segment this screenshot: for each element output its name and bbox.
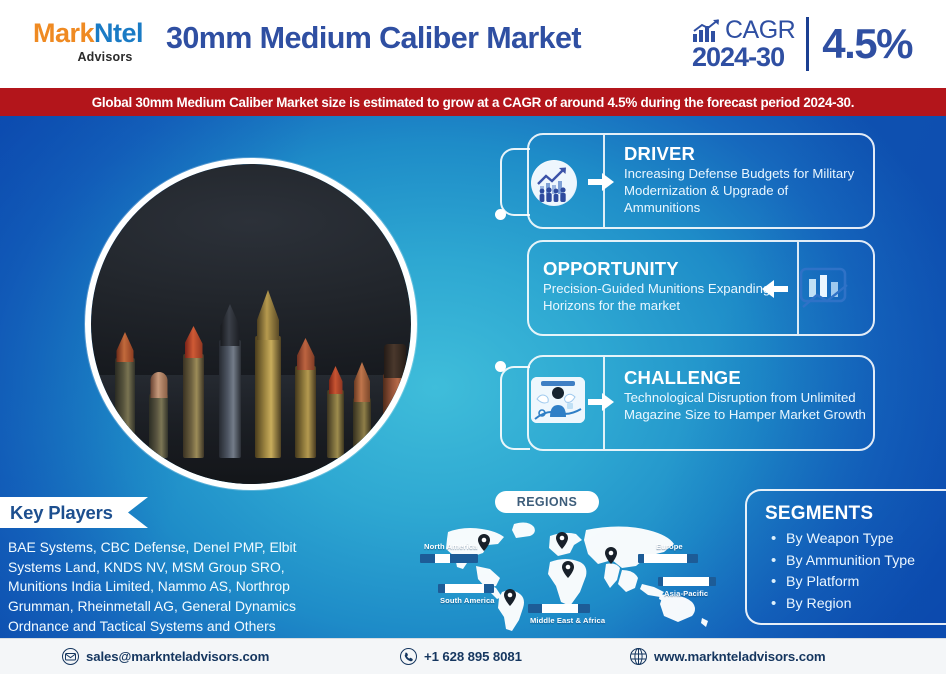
cartridge-6 (295, 340, 316, 458)
cartridge-2 (149, 376, 168, 458)
infographic-page: MarkNtel Advisors 30mm Medium Caliber Ma… (0, 0, 946, 674)
bar-chart-icon (797, 265, 851, 311)
region-label-middle-east-africa: Middle East & Africa (530, 616, 605, 625)
opportunity-arrow-left-icon (762, 279, 788, 299)
challenge-description: Technological Disruption from Unlimited … (624, 390, 869, 424)
region-bar-north-america (420, 554, 478, 563)
footer-website[interactable]: www.marknteladvisors.com (630, 648, 826, 665)
footer-phone-text: +1 628 895 8081 (424, 649, 522, 664)
region-label-north-america: North America (424, 542, 477, 551)
region-bar-middle-east-africa (528, 604, 590, 613)
cagr-label-row: CAGR (692, 18, 795, 43)
envelope-icon (62, 648, 79, 665)
bar-chart-glyph (797, 265, 851, 311)
page-title: 30mm Medium Caliber Market (166, 22, 666, 56)
cartridge-8 (353, 366, 371, 458)
key-players-list: BAE Systems, CBC Defense, Denel PMP, Elb… (8, 538, 330, 637)
cartridge-5 (255, 293, 281, 458)
person-analytics-glyph (531, 377, 585, 423)
cagr-period: 2024-30 (692, 44, 795, 71)
driver-connector-line (500, 148, 530, 216)
region-label-europe: Europe (656, 542, 683, 551)
world-map: North America Europe Asia-Pacific South … (410, 518, 730, 634)
map-pin-middle-east-africa (562, 561, 574, 578)
segment-item-platform: By Platform (771, 572, 915, 594)
cagr-value: 4.5% (822, 23, 912, 65)
region-bar-europe (638, 554, 698, 563)
segments-title: SEGMENTS (765, 503, 873, 525)
regions-pill: REGIONS (495, 491, 599, 513)
region-bar-south-america (438, 584, 494, 593)
people-growth-chart-icon (531, 160, 577, 206)
driver-arrow-right-icon (588, 172, 614, 192)
cagr-label: CAGR (725, 18, 795, 43)
cagr-divider (806, 17, 809, 71)
cagr-badge: CAGR 2024-30 4.5% (692, 13, 912, 75)
opportunity-heading: OPPORTUNITY (543, 258, 679, 280)
phone-icon (400, 648, 417, 665)
people-growth-chart-glyph (531, 160, 577, 206)
region-bar-asia-pacific (658, 577, 716, 586)
opportunity-description: Precision-Guided Munitions Expanding Hor… (543, 281, 773, 315)
summary-banner: Global 30mm Medium Caliber Market size i… (0, 88, 946, 116)
challenge-arrow-right-icon (588, 392, 614, 412)
segment-item-ammunition-type: By Ammunition Type (771, 551, 915, 573)
cartridge-3 (183, 328, 204, 458)
footer-email[interactable]: sales@marknteladvisors.com (62, 648, 269, 665)
map-pin-south-america (504, 589, 516, 606)
logo-mark-text: Mark (33, 18, 94, 48)
footer-bar: sales@marknteladvisors.com +1 628 895 80… (0, 638, 946, 674)
challenge-connector-dot (495, 361, 506, 372)
logo-ntel-text: Ntel (94, 18, 143, 48)
ammunition-photo-image (91, 164, 411, 484)
summary-banner-text: Global 30mm Medium Caliber Market size i… (92, 95, 854, 110)
segment-item-weapon-type: By Weapon Type (771, 529, 915, 551)
logo-subtitle: Advisors (18, 50, 158, 64)
footer-phone[interactable]: +1 628 895 8081 (400, 648, 522, 665)
driver-connector-dot (495, 209, 506, 220)
header-bar: MarkNtel Advisors 30mm Medium Caliber Ma… (0, 0, 946, 88)
cartridge-9 (383, 346, 407, 458)
ammunition-photo (85, 158, 417, 490)
challenge-heading: CHALLENGE (624, 367, 741, 389)
segment-item-region: By Region (771, 594, 915, 616)
person-analytics-icon (531, 377, 585, 423)
logo-wordmark: MarkNtel (18, 20, 158, 47)
map-pin-asia-pacific (605, 547, 617, 564)
segments-list: By Weapon Type By Ammunition Type By Pla… (771, 529, 915, 615)
bar-chart-growth-icon (692, 19, 722, 43)
map-pin-north-america (478, 534, 490, 551)
regions-label: REGIONS (517, 495, 577, 509)
map-pin-europe (556, 532, 568, 549)
cagr-left-column: CAGR 2024-30 (692, 18, 795, 71)
company-logo[interactable]: MarkNtel Advisors (18, 20, 158, 64)
footer-website-text: www.marknteladvisors.com (654, 649, 826, 664)
region-label-south-america: South America (440, 596, 495, 605)
driver-card: DRIVER Increasing Defense Budgets for Mi… (527, 133, 875, 229)
challenge-connector-line (500, 366, 530, 450)
region-label-asia-pacific: Asia-Pacific (664, 589, 708, 598)
driver-description: Increasing Defense Budgets for Military … (624, 166, 864, 217)
driver-heading: DRIVER (624, 143, 695, 165)
cartridge-1 (115, 338, 135, 458)
cartridge-7 (327, 370, 344, 458)
key-players-label: Key Players (10, 502, 113, 524)
key-players-ribbon: Key Players (0, 497, 148, 528)
segments-card: SEGMENTS By Weapon Type By Ammunition Ty… (745, 489, 946, 625)
footer-email-text: sales@marknteladvisors.com (86, 649, 269, 664)
cartridge-4 (219, 306, 241, 458)
globe-icon (630, 648, 647, 665)
